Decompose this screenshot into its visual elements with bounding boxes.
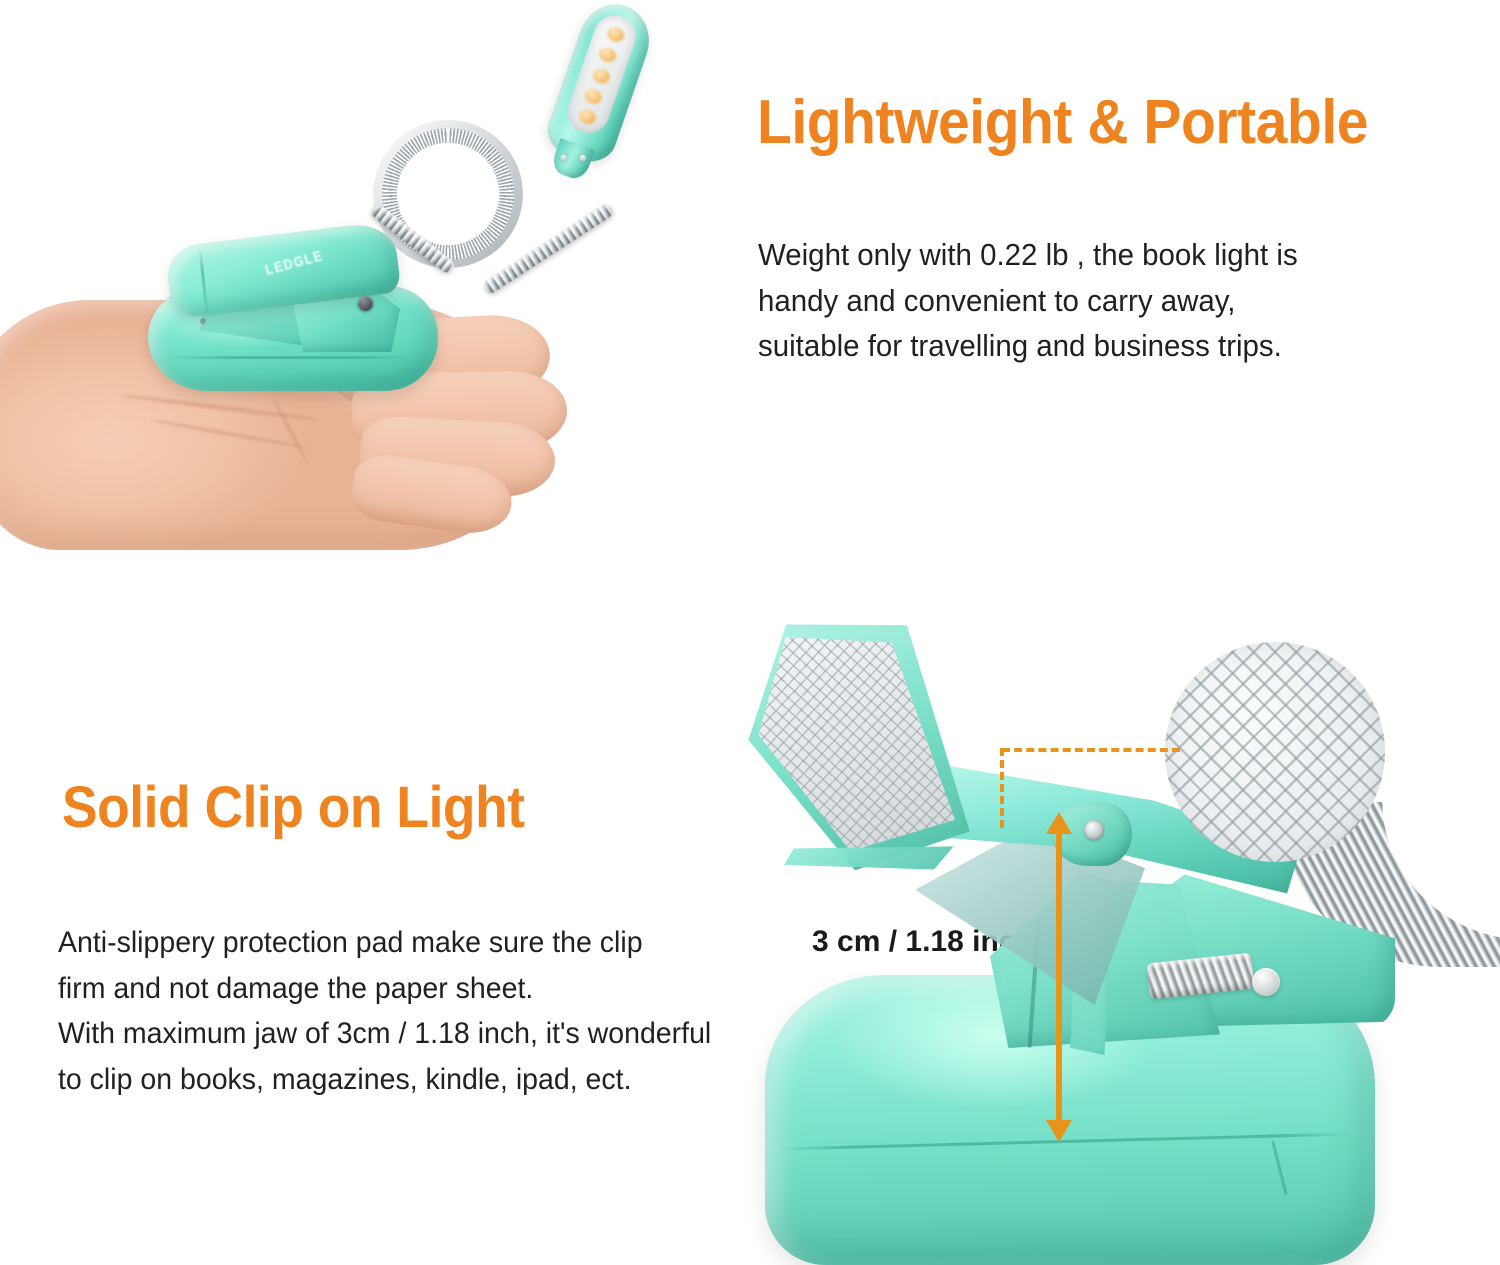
body-line: Anti-slippery protection pad make sure t… bbox=[58, 920, 711, 966]
product-photo-clip-closeup bbox=[740, 620, 1500, 1264]
section-heading-lightweight: Lightweight & Portable bbox=[757, 87, 1368, 158]
body-line: Weight only with 0.22 lb , the book ligh… bbox=[758, 232, 1298, 278]
clip-body-assembly: LEDGLE bbox=[140, 228, 460, 408]
power-button[interactable] bbox=[358, 296, 373, 311]
led-bulb bbox=[597, 46, 618, 65]
brand-logo-text: LEDGLE bbox=[263, 247, 325, 279]
led-bulb bbox=[591, 67, 612, 86]
infographic-canvas: LEDGLE Lightweight & Portable Weight onl… bbox=[0, 0, 1500, 1264]
dimension-arrow-line bbox=[1056, 832, 1062, 1127]
texture-magnifier-circle bbox=[1165, 642, 1385, 862]
led-lamp-head bbox=[541, 0, 659, 169]
screw-icon bbox=[559, 153, 568, 162]
dimension-arrow-head-down bbox=[1046, 1120, 1072, 1142]
body-line: to clip on books, magazines, kindle, ipa… bbox=[58, 1057, 711, 1103]
housing-seam bbox=[162, 356, 414, 359]
body-line: handy and convenient to carry away, bbox=[758, 278, 1298, 324]
section-body-solid-clip: Anti-slippery protection pad make sure t… bbox=[58, 920, 711, 1102]
power-button[interactable] bbox=[1252, 968, 1280, 996]
section-heading-solid-clip: Solid Clip on Light bbox=[62, 774, 525, 841]
anti-slip-pad bbox=[746, 626, 974, 864]
product-photo-hand-holding-light: LEDGLE bbox=[0, 0, 740, 560]
pad-edge bbox=[784, 843, 955, 875]
led-bulb bbox=[577, 107, 598, 126]
hinge-pin-icon bbox=[200, 318, 206, 324]
body-line: firm and not damage the paper sheet. bbox=[58, 966, 711, 1012]
callout-dashed-line-vertical bbox=[1000, 748, 1004, 828]
callout-dashed-line-horizontal bbox=[1002, 748, 1180, 752]
dimension-arrow-head-up bbox=[1046, 812, 1072, 834]
body-line: suitable for travelling and business tri… bbox=[758, 323, 1298, 369]
led-bulb bbox=[605, 25, 626, 44]
hinge-pin-icon bbox=[1084, 820, 1104, 840]
led-bulb bbox=[583, 87, 604, 106]
body-line: With maximum jaw of 3cm / 1.18 inch, it'… bbox=[58, 1011, 711, 1057]
screw-icon bbox=[578, 154, 587, 163]
section-body-lightweight: Weight only with 0.22 lb , the book ligh… bbox=[758, 232, 1298, 369]
